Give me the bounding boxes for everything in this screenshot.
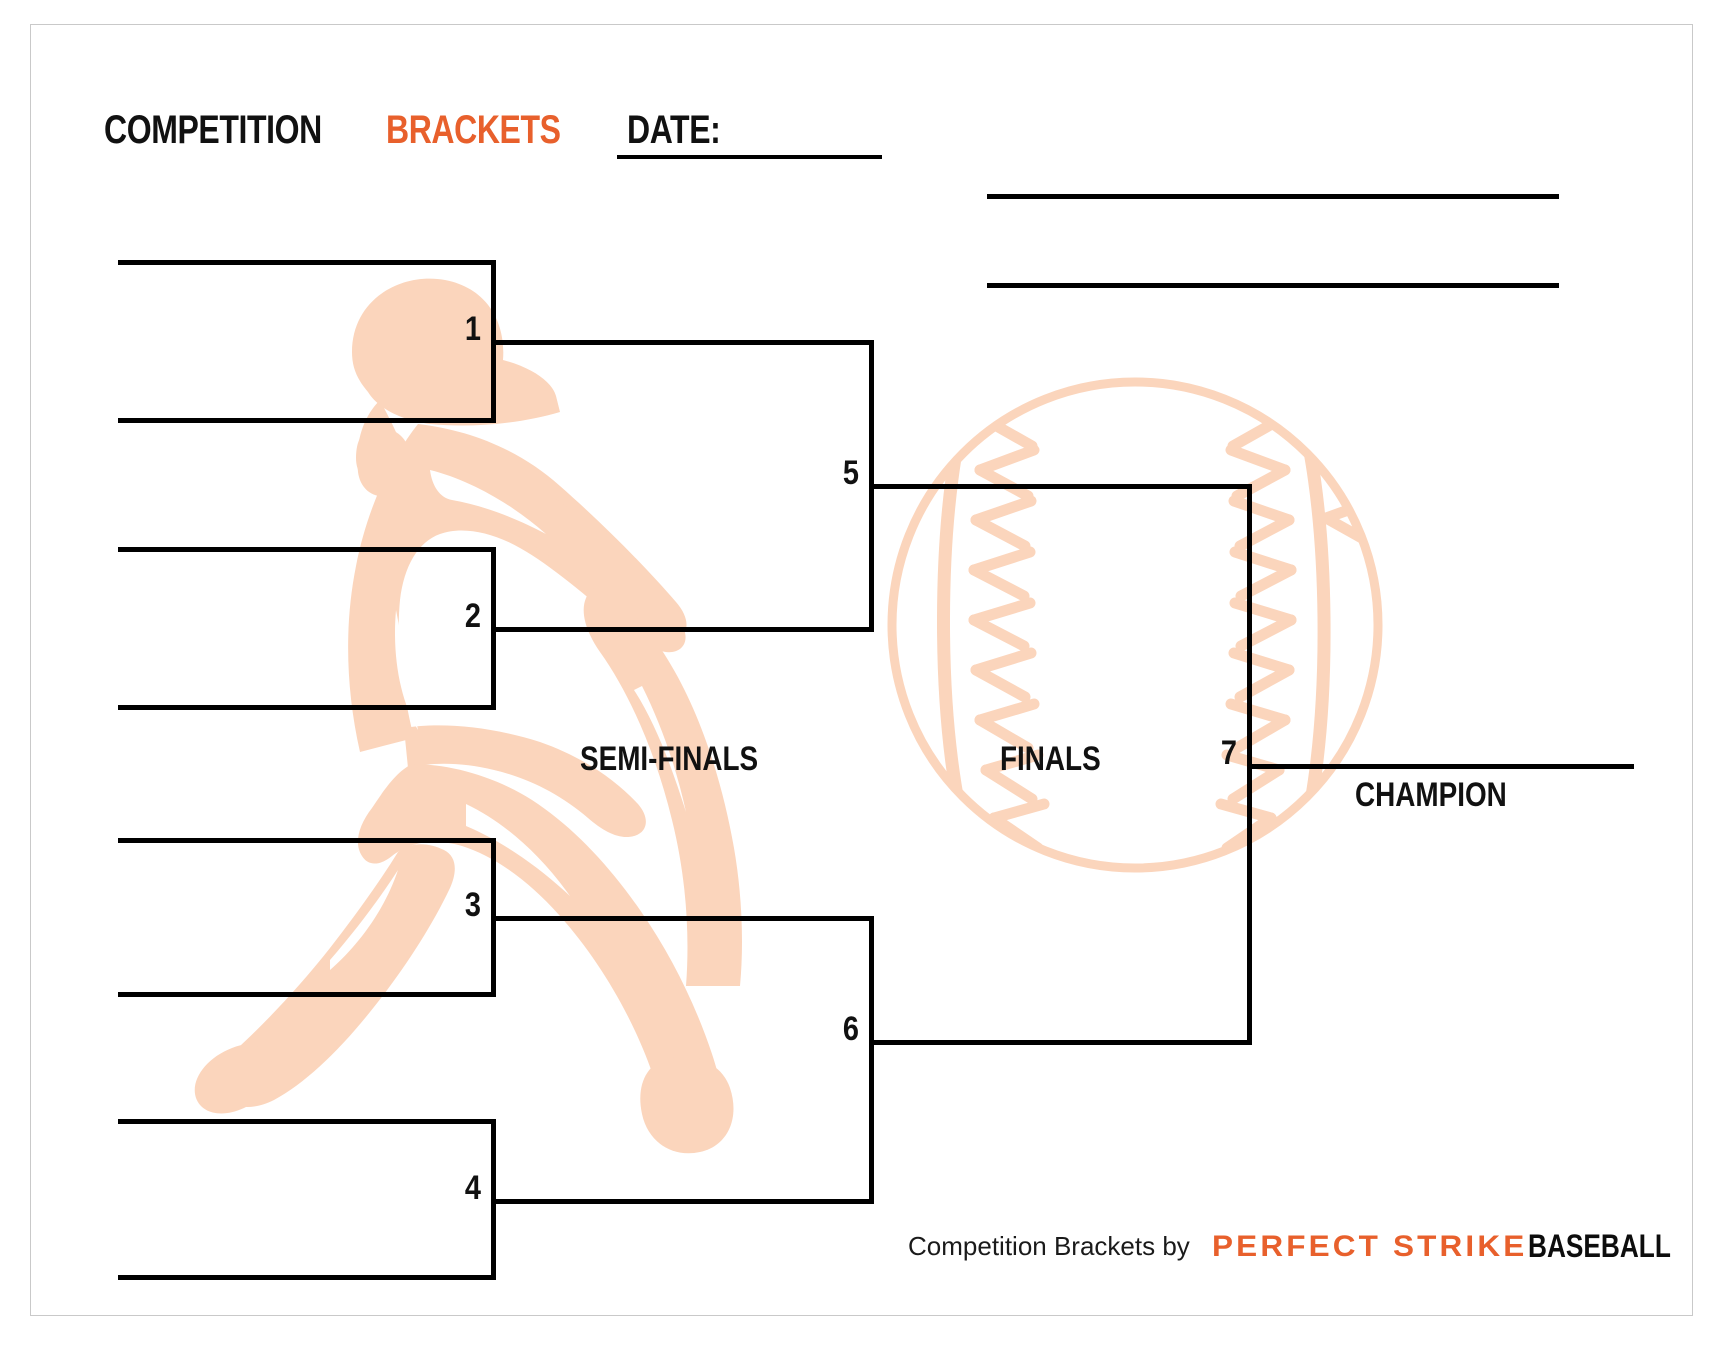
entry-line-1[interactable] (118, 260, 496, 265)
semifinal-line-2[interactable] (491, 627, 874, 632)
date-write-in-line[interactable] (617, 155, 882, 159)
brand-sport-label: BASEBALL (1528, 1228, 1671, 1265)
entry-line-6[interactable] (118, 992, 496, 997)
semifinal-line-4[interactable] (491, 1199, 874, 1204)
entry-line-8[interactable] (118, 1275, 496, 1280)
title-competition: COMPETITION (104, 108, 322, 153)
entry-line-5[interactable] (118, 838, 496, 843)
brand-logo-group: PERFECT STRIKE BASEBALL (1212, 1228, 1703, 1265)
entry-line-7[interactable] (118, 1119, 496, 1124)
title-brackets: BRACKETS (386, 108, 561, 153)
match-number-4: 4 (447, 1169, 481, 1208)
entry-line-3[interactable] (118, 547, 496, 552)
date-label: DATE: (627, 108, 720, 153)
semifinal-line-3[interactable] (491, 916, 874, 921)
match-number-1: 1 (447, 310, 481, 349)
final-line-2[interactable] (869, 1040, 1252, 1045)
match-number-6: 6 (825, 1010, 859, 1049)
label-semifinals: SEMI-FINALS (580, 740, 758, 779)
label-champion: CHAMPION (1355, 776, 1507, 815)
winner-write-in-line-1[interactable] (987, 194, 1559, 199)
footer-credit: Competition Brackets by PERFECT STRIKE B… (908, 1228, 1702, 1265)
match-number-3: 3 (447, 886, 481, 925)
entry-line-4[interactable] (118, 705, 496, 710)
winner-write-in-line-2[interactable] (987, 283, 1559, 288)
champion-line[interactable] (1247, 764, 1634, 769)
match-number-5: 5 (825, 454, 859, 493)
semifinal-line-1[interactable] (491, 340, 874, 345)
bracket-page: COMPETITION BRACKETS DATE: 1 2 3 4 5 6 7… (0, 0, 1725, 1350)
footer-credit-text: Competition Brackets by (908, 1231, 1190, 1262)
match-number-7: 7 (1203, 734, 1237, 773)
match-number-2: 2 (447, 597, 481, 636)
label-finals: FINALS (1000, 740, 1101, 779)
page-title: COMPETITION BRACKETS DATE: (104, 108, 743, 153)
perfect-strike-logo: PERFECT STRIKE (1212, 1230, 1527, 1264)
entry-line-2[interactable] (118, 418, 496, 423)
final-line-1[interactable] (869, 484, 1252, 489)
connector-match-6 (869, 916, 874, 1204)
